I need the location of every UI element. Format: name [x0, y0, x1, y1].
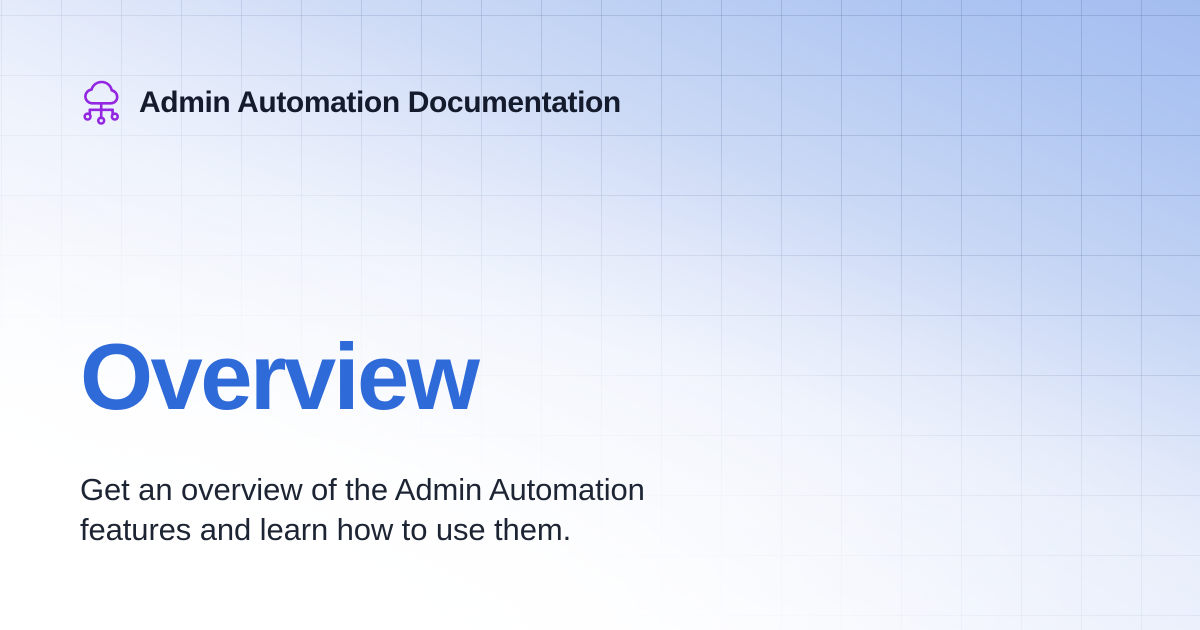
brand-header: Admin Automation Documentation [80, 78, 621, 128]
page-subtitle-line-1: Get an overview of the Admin Automation [80, 470, 840, 510]
brand-title: Admin Automation Documentation [139, 88, 621, 118]
page-title: Overview [80, 330, 477, 424]
banner-content: Admin Automation Documentation Overview … [0, 0, 1200, 630]
cloud-network-icon [80, 80, 122, 126]
page-subtitle: Get an overview of the Admin Automation … [80, 470, 840, 550]
og-banner-card: Admin Automation Documentation Overview … [0, 0, 1200, 630]
page-subtitle-line-2: features and learn how to use them. [80, 510, 840, 550]
